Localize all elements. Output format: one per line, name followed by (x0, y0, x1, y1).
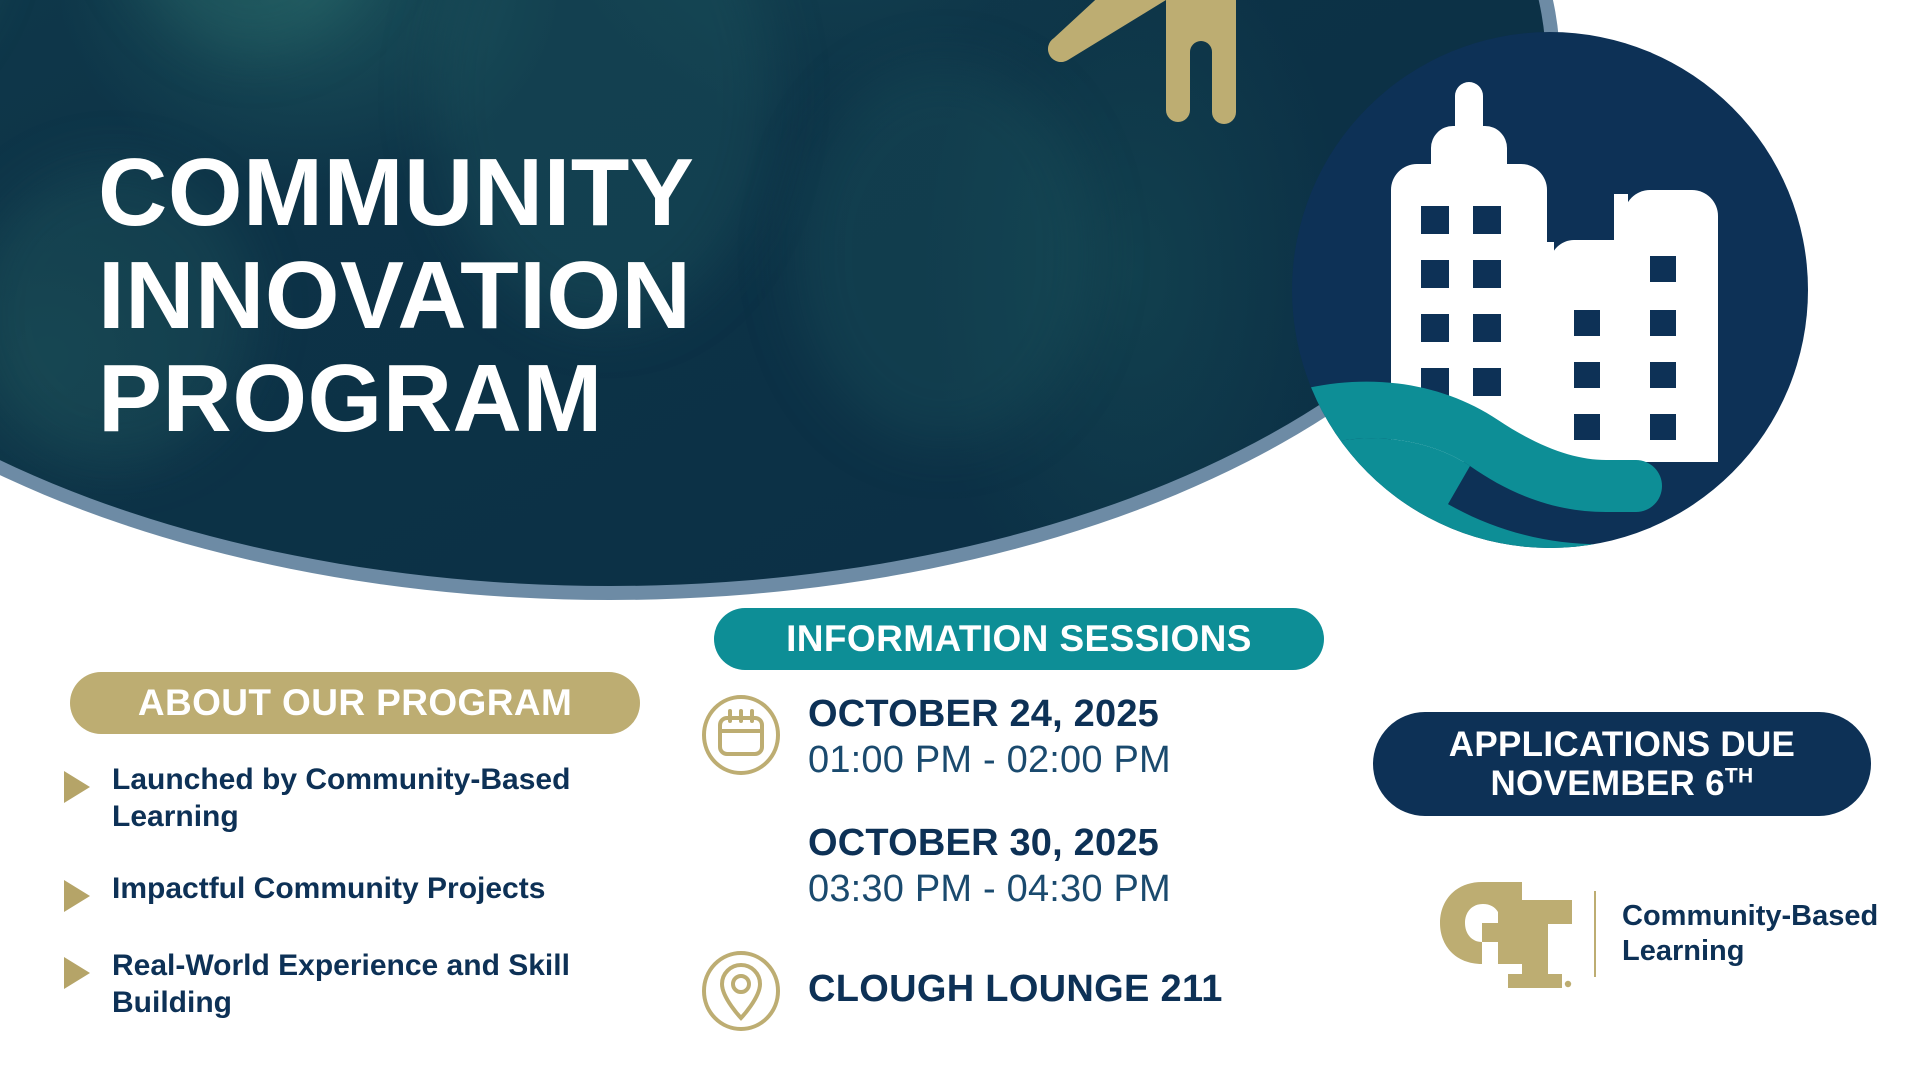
session-details: OCTOBER 24, 2025 01:00 PM - 02:00 PM (808, 690, 1340, 783)
deadline-ordinal: TH (1725, 764, 1754, 787)
triangle-bullet-icon (64, 771, 90, 803)
gt-logo-text-line-1: Community-Based (1622, 899, 1878, 934)
session-icon-slot (700, 690, 808, 776)
page-title-line-3: PROGRAM (98, 348, 1078, 451)
location-label: CLOUGH LOUNGE 211 (808, 968, 1223, 1011)
triangle-bullet-icon (64, 957, 90, 989)
logo-divider (1594, 891, 1596, 977)
session-icon-slot (700, 819, 808, 823)
georgia-tech-gt-monogram-icon (1438, 876, 1574, 992)
city-in-hand-logo-icon (1288, 28, 1812, 552)
about-bullet-label: Impactful Community Projects (112, 871, 545, 908)
session-location: CLOUGH LOUNGE 211 (700, 946, 1340, 1032)
map-pin-icon (700, 950, 782, 1032)
information-sessions-pill: INFORMATION SESSIONS (714, 608, 1324, 670)
session-item: OCTOBER 30, 2025 03:30 PM - 04:30 PM (700, 819, 1340, 912)
about-program-pill: ABOUT OUR PROGRAM (70, 672, 640, 734)
list-item: Impactful Community Projects (64, 871, 664, 912)
about-program-list: Launched by Community-Based Learning Imp… (64, 762, 664, 1021)
information-sessions-block: OCTOBER 24, 2025 01:00 PM - 02:00 PM OCT… (700, 690, 1340, 1032)
page-title-line-1: COMMUNITY (98, 142, 1078, 245)
deadline-line-1: APPLICATIONS DUE (1449, 725, 1795, 764)
session-item: OCTOBER 24, 2025 01:00 PM - 02:00 PM (700, 690, 1340, 783)
gt-logo-lockup: Community-Based Learning (1438, 876, 1878, 992)
session-spacer (700, 783, 1340, 819)
calendar-icon (700, 694, 782, 776)
list-item: Launched by Community-Based Learning (64, 762, 664, 835)
gt-logo-text-line-2: Learning (1622, 934, 1878, 969)
triangle-bullet-icon (64, 880, 90, 912)
page-title: COMMUNITY INNOVATION PROGRAM (98, 142, 1078, 450)
flyer-poster: COMMUNITY INNOVATION PROGRAM (0, 0, 1920, 1080)
leaf-texture-2 (104, 0, 404, 54)
gt-logo-text: Community-Based Learning (1622, 899, 1878, 970)
page-title-line-2: INNOVATION (98, 245, 1078, 348)
session-time: 01:00 PM - 02:00 PM (808, 737, 1340, 783)
deadline-line-2: NOVEMBER 6TH (1490, 764, 1753, 803)
about-bullet-label: Real-World Experience and Skill Building (112, 948, 652, 1021)
session-time: 03:30 PM - 04:30 PM (808, 866, 1340, 912)
session-details: OCTOBER 30, 2025 03:30 PM - 04:30 PM (808, 819, 1340, 912)
session-date: OCTOBER 24, 2025 (808, 692, 1340, 737)
location-icon-slot (700, 946, 808, 1032)
about-bullet-label: Launched by Community-Based Learning (112, 762, 652, 835)
deadline-date: NOVEMBER 6 (1490, 764, 1724, 803)
session-date: OCTOBER 30, 2025 (808, 821, 1340, 866)
list-item: Real-World Experience and Skill Building (64, 948, 664, 1021)
applications-due-badge: APPLICATIONS DUE NOVEMBER 6TH (1373, 712, 1871, 816)
